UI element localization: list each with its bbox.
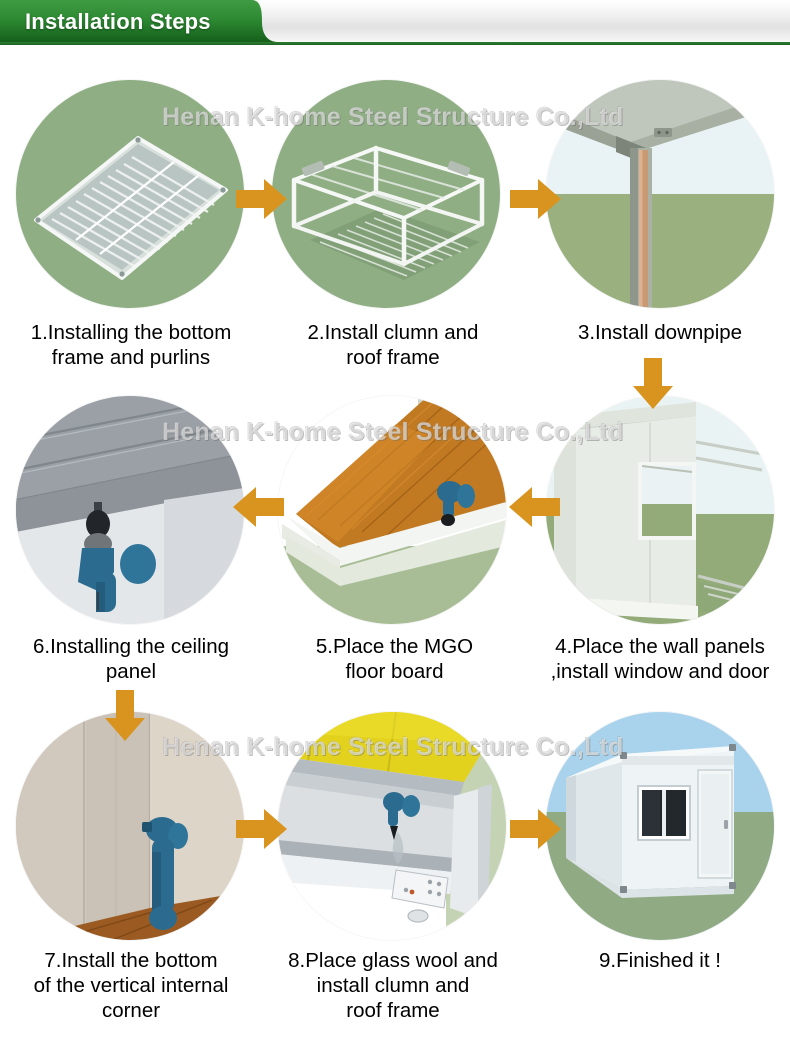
page-title: Installation Steps [25, 9, 211, 35]
step-caption-1: 1.Installing the bottom frame and purlin… [0, 320, 262, 370]
arrow-step2-to-step3 [510, 178, 562, 220]
scene-floor-frame-purlins [16, 80, 244, 308]
step-caption-8: 8.Place glass wool and install clumn and… [268, 948, 518, 1023]
scene-wall-panels-window-door [546, 396, 774, 624]
step-caption-7: 7.Install the bottom of the vertical int… [0, 948, 262, 1023]
step-caption-3: 3.Install downpipe [530, 320, 790, 345]
step-image-2 [272, 80, 500, 308]
scene-mgo-floor-board [278, 396, 506, 624]
arrow-step4-to-step5 [508, 486, 560, 528]
step-caption-5: 5.Place the MGO floor board [272, 634, 517, 684]
step-caption-6: 6.Installing the ceiling panel [0, 634, 262, 684]
step-image-8 [278, 712, 506, 940]
scene-glass-wool-roof [278, 712, 506, 940]
step-image-4 [546, 396, 774, 624]
arrow-step3-to-step4 [632, 358, 674, 410]
step-image-7 [16, 712, 244, 940]
scene-finished-container-house [546, 712, 774, 940]
header-bottom-rule [0, 42, 790, 45]
step-caption-2: 2.Install clumn and roof frame [268, 320, 518, 370]
step-image-3 [546, 80, 774, 308]
step-image-6 [16, 396, 244, 624]
step-caption-4: 4.Place the wall panels ,install window … [530, 634, 790, 684]
arrow-step6-to-step7 [104, 690, 146, 742]
step-caption-9: 9.Finished it ! [530, 948, 790, 973]
scene-downpipe [546, 80, 774, 308]
step-image-1 [16, 80, 244, 308]
page-header: Installation Steps [0, 0, 790, 47]
arrow-step8-to-step9 [510, 808, 562, 850]
arrow-step7-to-step8 [236, 808, 288, 850]
step-image-5 [278, 396, 506, 624]
arrow-step1-to-step2 [236, 178, 288, 220]
scene-ceiling-panel [16, 396, 244, 624]
step-image-9 [546, 712, 774, 940]
scene-column-roof-frame [272, 80, 500, 308]
arrow-step5-to-step6 [232, 486, 284, 528]
scene-vertical-internal-corner [16, 712, 244, 940]
